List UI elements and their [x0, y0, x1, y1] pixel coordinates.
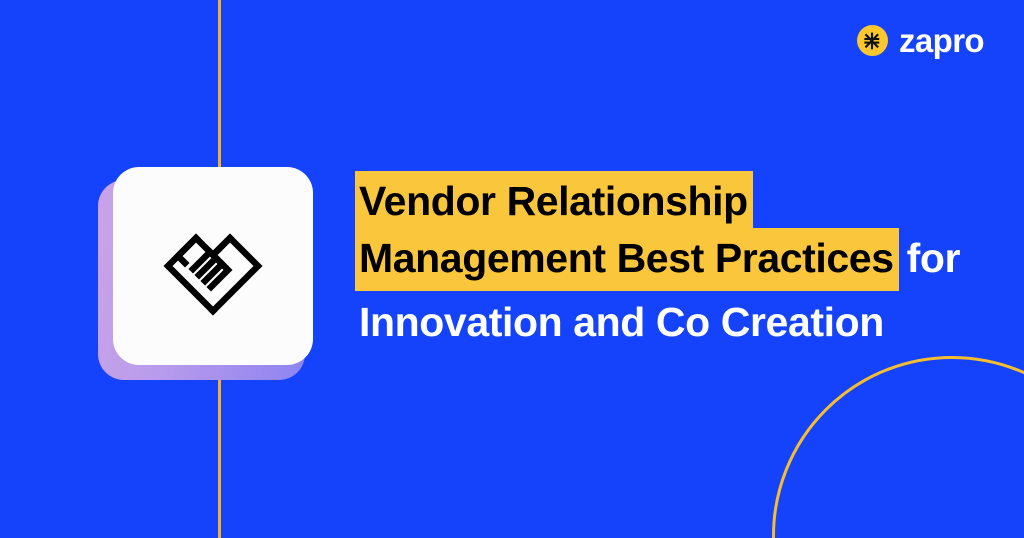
card-front-layer [113, 167, 313, 365]
brand-wordmark: zapro [899, 24, 984, 57]
brand-logo[interactable]: zapro [857, 24, 984, 57]
headline-line-1-highlight: Vendor Relationship [355, 171, 753, 234]
handshake-icon [158, 211, 268, 321]
headline-line-2: Management Best Practicesfor [355, 238, 995, 279]
zapro-monogram-icon [857, 25, 888, 56]
headline-line-3: Innovation and Co Creation [355, 295, 995, 353]
promo-banner: zapro [0, 0, 1024, 538]
gold-circle-arc [772, 356, 1024, 538]
headline-line-2-highlight: Management Best Practices [355, 228, 899, 291]
headline-line-1: Vendor Relationship [355, 181, 995, 222]
headline: Vendor Relationship Management Best Prac… [355, 181, 995, 353]
handshake-icon-card [98, 167, 313, 380]
headline-line-2-plain: for [899, 235, 960, 281]
